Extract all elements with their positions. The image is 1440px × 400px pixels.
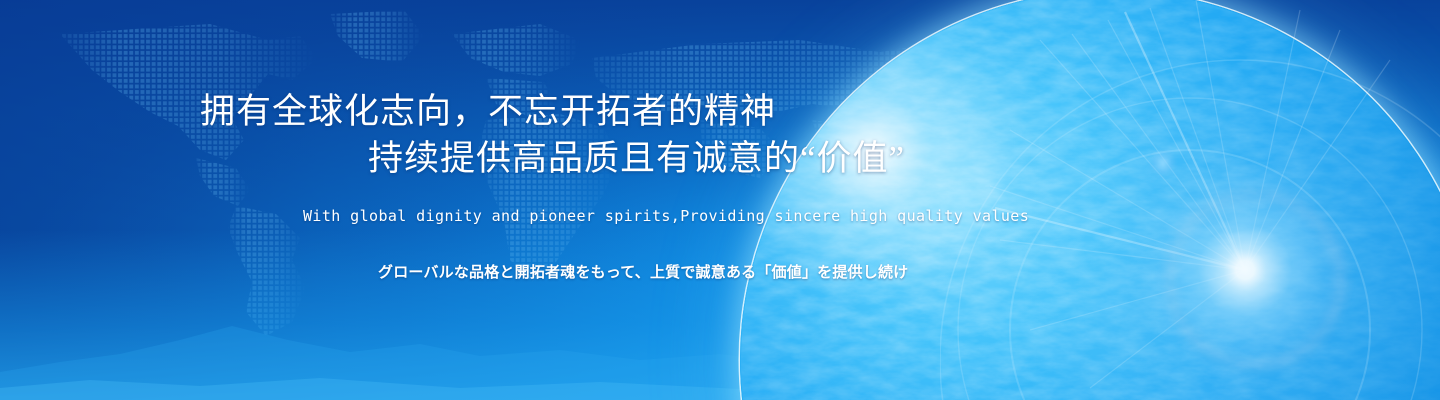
subtitle-japanese: グローバルな品格と開拓者魂をもって、上質で誠意ある「価値」を提供し続け <box>378 261 908 283</box>
hero-banner: 拥有全球化志向，不忘开拓者的精神 持续提供高品质且有诚意的“价值” With g… <box>0 0 1440 400</box>
headline: 拥有全球化志向，不忘开拓者的精神 持续提供高品质且有诚意的“价值” <box>200 88 905 182</box>
headline-line-1: 拥有全球化志向，不忘开拓者的精神 <box>200 88 905 135</box>
headline-line-2: 持续提供高品质且有诚意的“价值” <box>200 135 905 182</box>
banner-copy: 拥有全球化志向，不忘开拓者的精神 持续提供高品质且有诚意的“价值” With g… <box>0 0 1440 400</box>
subtitle-english: With global dignity and pioneer spirits,… <box>303 206 1029 226</box>
